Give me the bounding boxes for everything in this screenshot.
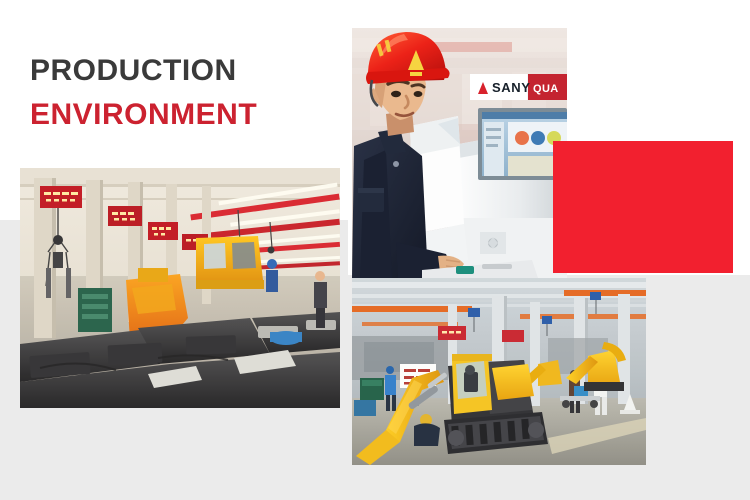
title-line-environment: ENVIRONMENT xyxy=(30,96,330,134)
photo-assembly-line-left xyxy=(20,168,340,408)
photo-excavator-line-bottom-graphic xyxy=(352,278,646,465)
photo-excavator-line-bottom xyxy=(352,278,646,465)
page-title: PRODUCTION ENVIRONMENT xyxy=(30,52,330,134)
title-line-production: PRODUCTION xyxy=(30,52,330,90)
photo-assembly-line-left-graphic xyxy=(20,168,340,408)
poster-canvas: PRODUCTION ENVIRONMENT xyxy=(0,0,750,500)
svg-text:QUA: QUA xyxy=(533,83,559,95)
svg-text:SANY: SANY xyxy=(492,80,531,95)
red-accent-block xyxy=(553,141,733,273)
photo-operator-top: SANY QUA xyxy=(352,28,567,278)
photo-operator-top-graphic: SANY QUA xyxy=(352,28,567,278)
